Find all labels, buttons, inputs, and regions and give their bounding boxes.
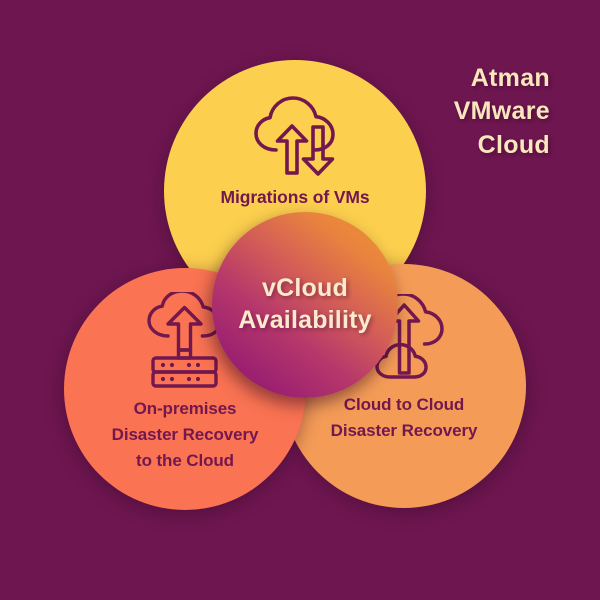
petal-label-migrations: Migrations of VMs (221, 184, 370, 211)
center-hub-line-1: vCloud (238, 273, 371, 305)
petal-label-line: to the Cloud (112, 448, 259, 474)
petal-label-line: Disaster Recovery (112, 422, 259, 448)
petal-label-cloud-to-cloud: Cloud to Cloud Disaster Recovery (331, 392, 478, 444)
center-hub-label: vCloud Availability (238, 273, 371, 337)
petal-label-on-premises: On-premises Disaster Recovery to the Clo… (112, 396, 259, 473)
center-hub-line-2: Availability (238, 305, 371, 337)
cloud-up-down-arrows-icon (246, 94, 344, 178)
petal-label-line: On-premises (112, 396, 259, 422)
petal-label-line: Disaster Recovery (331, 418, 478, 444)
center-hub-vcloud-availability[interactable]: vCloud Availability (212, 212, 398, 398)
infographic-canvas: Atman VMware Cloud Migrations of VMs (0, 0, 600, 600)
petal-label-line: Cloud to Cloud (331, 392, 478, 418)
petal-label-line: Migrations of VMs (221, 184, 370, 211)
